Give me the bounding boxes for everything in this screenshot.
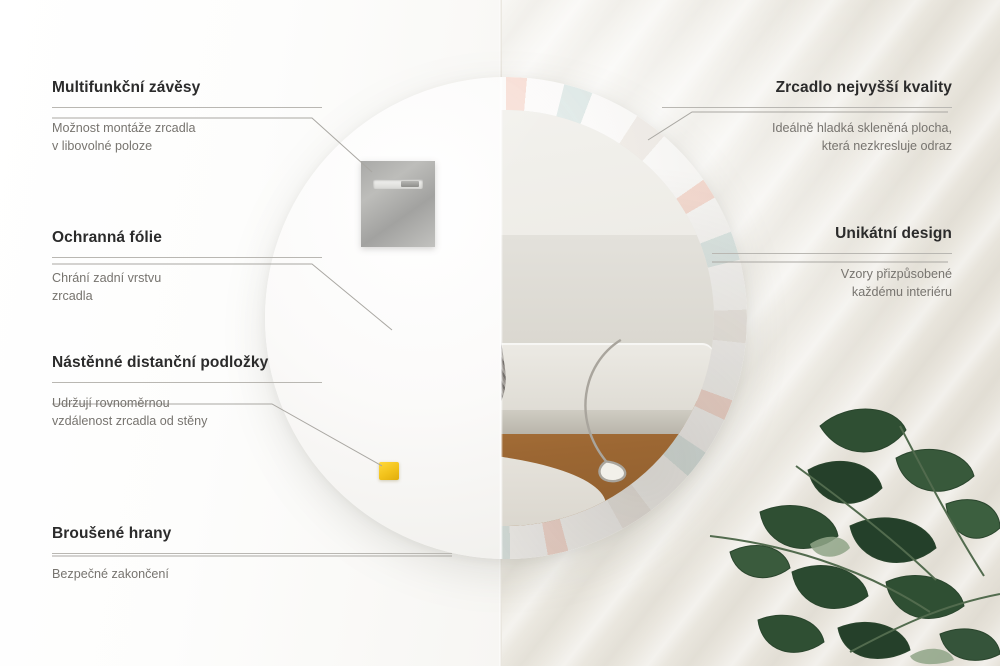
callout-unique-design: Unikátní design Vzory přizpůsobené každé… xyxy=(712,224,952,302)
hanger-plate-icon xyxy=(361,161,435,247)
callout-hangers-title: Multifunkční závěsy xyxy=(52,78,322,98)
callout-foil-title: Ochranná fólie xyxy=(52,228,322,248)
wall-spacer-pad-icon xyxy=(379,462,399,480)
callout-ground-edges: Broušené hrany Bezpečné zakončení xyxy=(52,524,452,583)
callout-hangers-desc: Možnost montáže zrcadla v libovolné polo… xyxy=(52,119,322,157)
callout-edges-desc: Bezpečné zakončení xyxy=(52,565,452,584)
callout-quality-desc: Ideálně hladká skleněná plocha, která ne… xyxy=(662,119,952,157)
callout-protective-foil: Ochranná fólie Chrání zadní vrstvu zrcad… xyxy=(52,228,322,306)
callout-design-desc: Vzory přizpůsobené každému interiéru xyxy=(712,265,952,303)
callout-design-rule xyxy=(712,253,952,254)
callout-spacers-desc: Udržují rovnoměrnou vzdálenost zrcadla o… xyxy=(52,394,322,432)
callout-edges-title: Broušené hrany xyxy=(52,524,452,544)
callout-edges-rule xyxy=(52,553,452,554)
callout-spacers-rule xyxy=(52,382,322,383)
callout-spacers-title: Nástěnné distanční podložky xyxy=(52,353,322,373)
callout-quality-title: Zrcadlo nejvyšší kvality xyxy=(662,78,952,98)
callout-quality-rule xyxy=(662,107,952,108)
callout-mirror-quality: Zrcadlo nejvyšší kvality Ideálně hladká … xyxy=(662,78,952,156)
callout-wall-spacers: Nástěnné distanční podložky Udržují rovn… xyxy=(52,353,322,431)
callout-hangers: Multifunkční závěsy Možnost montáže zrca… xyxy=(52,78,322,156)
hanger-keyhole-slot xyxy=(373,179,423,189)
floor-lamp-icon xyxy=(556,335,681,493)
callout-foil-desc: Chrání zadní vrstvu zrcadla xyxy=(52,269,322,307)
product-feature-diagram: Multifunkční závěsy Možnost montáže zrca… xyxy=(0,0,1000,666)
callout-design-title: Unikátní design xyxy=(712,224,952,244)
callout-hangers-rule xyxy=(52,107,322,108)
callout-foil-rule xyxy=(52,257,322,258)
